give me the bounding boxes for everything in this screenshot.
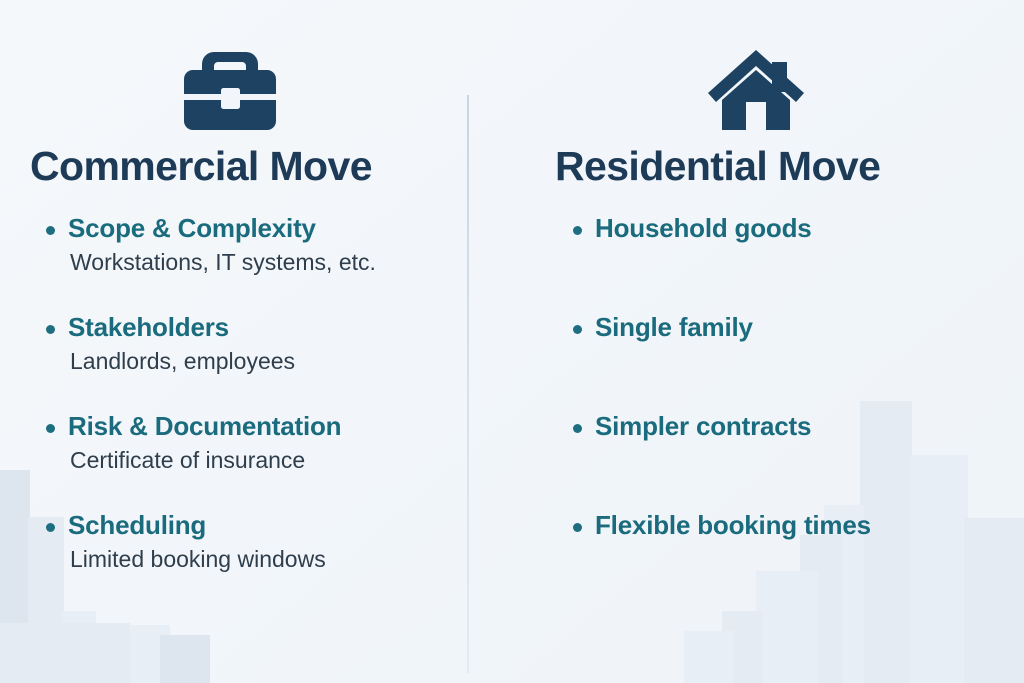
list-item: Single family bbox=[555, 312, 994, 411]
list-item: Stakeholders Landlords, employees bbox=[28, 312, 437, 411]
list-item-title: Risk & Documentation bbox=[68, 411, 437, 442]
briefcase-icon-container bbox=[28, 44, 437, 142]
list-item-title: Simpler contracts bbox=[595, 411, 994, 442]
list-item: Flexible booking times bbox=[555, 510, 994, 609]
list-item: Scheduling Limited booking windows bbox=[28, 510, 437, 609]
list-item-title: Single family bbox=[595, 312, 994, 343]
bullet-dot-icon bbox=[573, 424, 582, 433]
column-commercial: Commercial Move Scope & Complexity Works… bbox=[0, 0, 467, 683]
list-item: Risk & Documentation Certificate of insu… bbox=[28, 411, 437, 510]
list-item-title: Scheduling bbox=[68, 510, 437, 541]
column-residential: Residential Move Household goods Single … bbox=[467, 0, 1024, 683]
list-item-subtitle: Certificate of insurance bbox=[70, 446, 437, 475]
house-icon bbox=[704, 44, 808, 136]
list-item: Simpler contracts bbox=[555, 411, 994, 510]
list-item-title: Stakeholders bbox=[68, 312, 437, 343]
bullet-dot-icon bbox=[46, 424, 55, 433]
briefcase-icon bbox=[178, 44, 282, 136]
bullet-dot-icon bbox=[573, 523, 582, 532]
feature-list-commercial: Scope & Complexity Workstations, IT syst… bbox=[28, 213, 437, 609]
feature-list-residential: Household goods Single family Simpler co… bbox=[555, 213, 994, 609]
house-icon-container bbox=[555, 44, 994, 142]
page-title-residential: Residential Move bbox=[555, 146, 994, 187]
page-title-commercial: Commercial Move bbox=[30, 146, 437, 187]
list-item-title: Flexible booking times bbox=[595, 510, 994, 541]
bullet-dot-icon bbox=[573, 325, 582, 334]
columns-container: Commercial Move Scope & Complexity Works… bbox=[0, 0, 1024, 683]
list-item-subtitle: Workstations, IT systems, etc. bbox=[70, 248, 437, 277]
list-item-title: Household goods bbox=[595, 213, 994, 244]
bullet-dot-icon bbox=[46, 325, 55, 334]
bullet-dot-icon bbox=[46, 523, 55, 532]
list-item: Household goods bbox=[555, 213, 994, 312]
list-item-subtitle: Limited booking windows bbox=[70, 545, 437, 574]
list-item-title: Scope & Complexity bbox=[68, 213, 437, 244]
bullet-dot-icon bbox=[573, 226, 582, 235]
list-item: Scope & Complexity Workstations, IT syst… bbox=[28, 213, 437, 312]
bullet-dot-icon bbox=[46, 226, 55, 235]
comparison-infographic: Commercial Move Scope & Complexity Works… bbox=[0, 0, 1024, 683]
list-item-subtitle: Landlords, employees bbox=[70, 347, 437, 376]
